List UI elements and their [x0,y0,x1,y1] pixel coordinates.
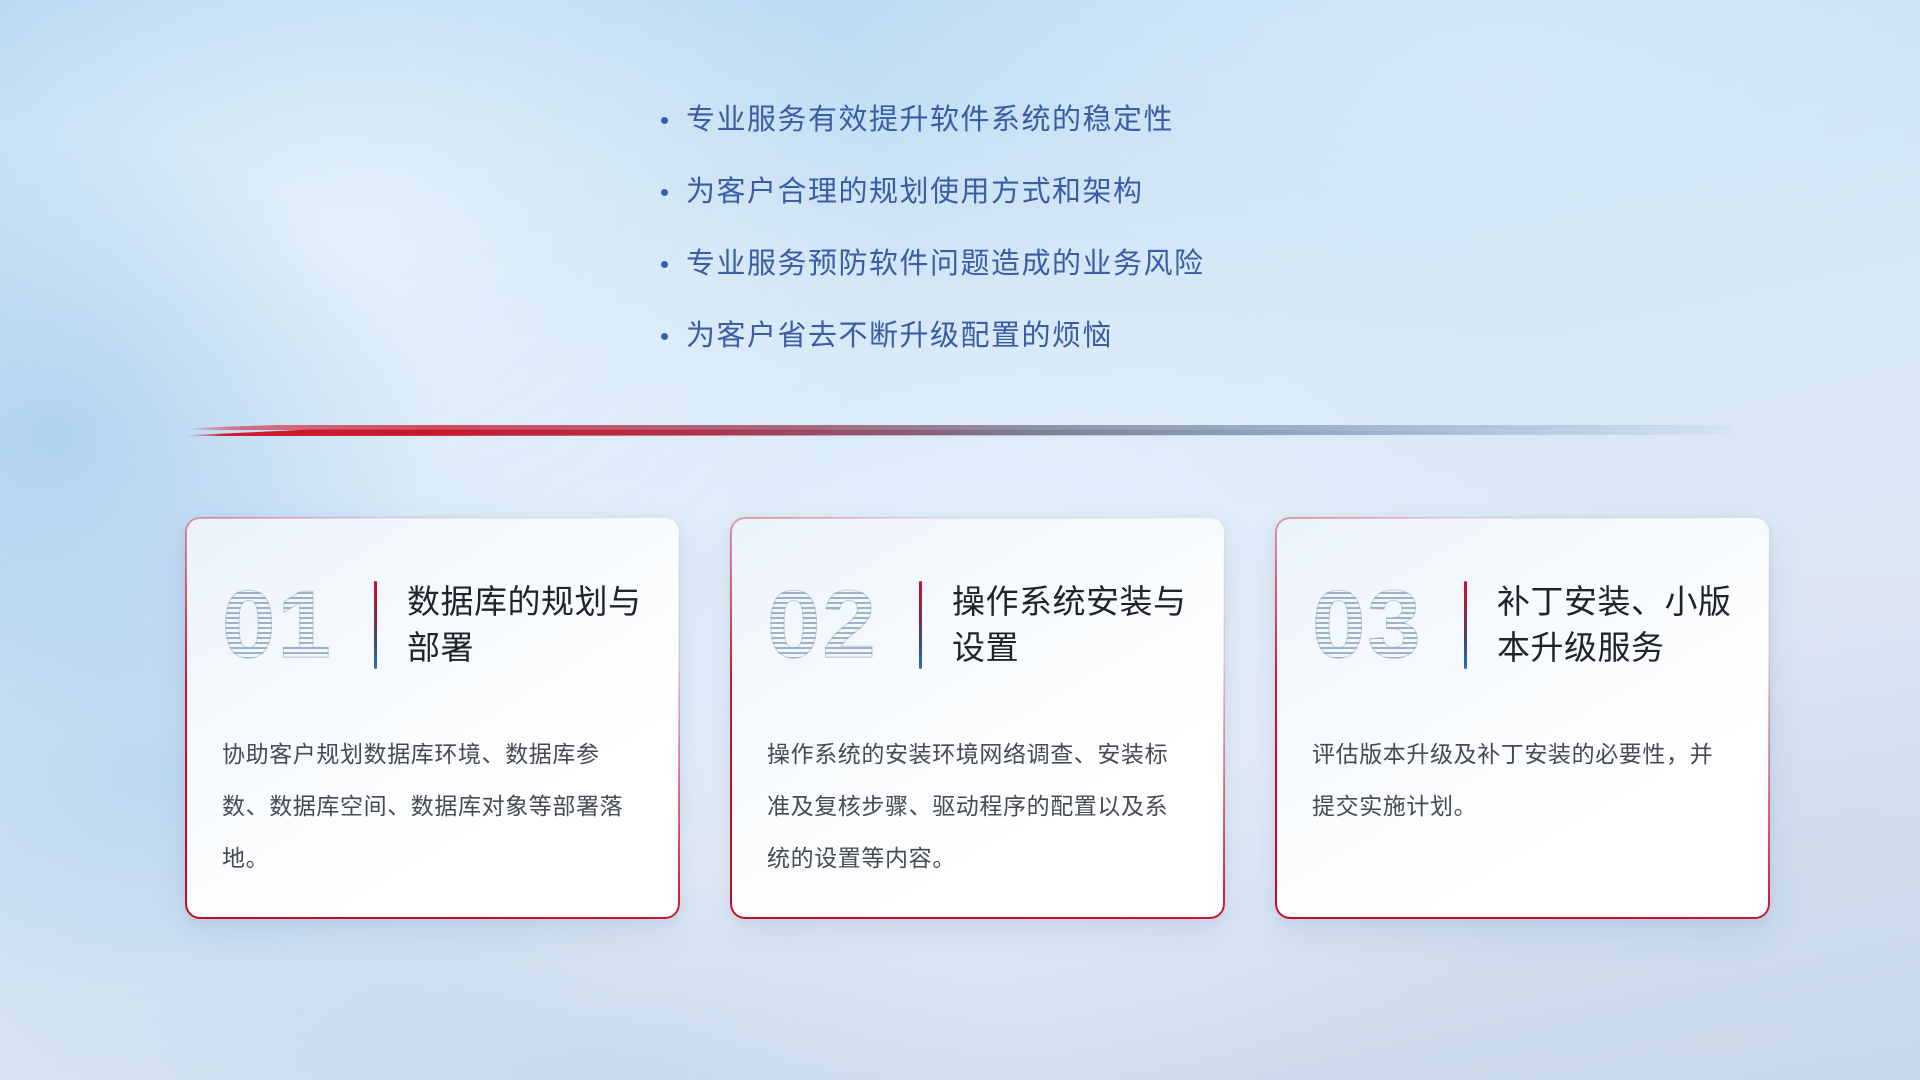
section-divider [186,425,1731,436]
card-number-badge: 01 [222,577,374,673]
card-divider-rule [1464,581,1467,669]
card-divider-rule [919,581,922,669]
card-title: 补丁安装、小版本升级服务 [1497,579,1733,671]
bullet-marker-icon: • [660,316,686,356]
service-card-01[interactable]: 01 数据库的规划与部署 协助客户规划数据库环境、数据库参数、数据库空间、数据库… [186,518,679,918]
list-item: • 专业服务有效提升软件系统的稳定性 [660,100,1420,144]
card-title: 操作系统安装与设置 [952,579,1188,671]
list-item: • 为客户省去不断升级配置的烦恼 [660,316,1420,360]
service-card-03[interactable]: 03 补丁安装、小版本升级服务 评估版本升级及补丁安装的必要性，并提交实施计划。 [1276,518,1769,918]
service-card-02[interactable]: 02 操作系统安装与设置 操作系统的安装环境网络调查、安装标准及复核步骤、驱动程… [731,518,1224,918]
bullet-marker-icon: • [660,100,686,140]
card-title: 数据库的规划与部署 [407,579,643,671]
card-header: 03 补丁安装、小版本升级服务 [1312,564,1733,686]
card-description: 评估版本升级及补丁安装的必要性，并提交实施计划。 [1312,728,1733,832]
card-description: 操作系统的安装环境网络调查、安装标准及复核步骤、驱动程序的配置以及系统的设置等内… [767,728,1188,884]
card-number-badge: 02 [767,577,919,673]
benefits-bullet-list: • 专业服务有效提升软件系统的稳定性 • 为客户合理的规划使用方式和架构 • 专… [660,100,1420,388]
card-header: 02 操作系统安装与设置 [767,564,1188,686]
list-item: • 为客户合理的规划使用方式和架构 [660,172,1420,216]
service-card-group: 01 数据库的规划与部署 协助客户规划数据库环境、数据库参数、数据库空间、数据库… [186,518,1771,918]
bullet-item-text-4: 为客户省去不断升级配置的烦恼 [686,316,1113,356]
bullet-marker-icon: • [660,172,686,212]
bullet-item-text-2: 为客户合理的规划使用方式和架构 [686,172,1144,212]
divider-bar [186,429,1731,436]
bullet-marker-icon: • [660,244,686,284]
bullet-item-text-3: 专业服务预防软件问题造成的业务风险 [686,244,1205,284]
bullet-item-text-1: 专业服务有效提升软件系统的稳定性 [686,100,1174,140]
divider-highlight [186,425,1731,430]
list-item: • 专业服务预防软件问题造成的业务风险 [660,244,1420,288]
card-header: 01 数据库的规划与部署 [222,564,643,686]
card-description: 协助客户规划数据库环境、数据库参数、数据库空间、数据库对象等部署落地。 [222,728,643,884]
card-number-badge: 03 [1312,577,1464,673]
card-divider-rule [374,581,377,669]
